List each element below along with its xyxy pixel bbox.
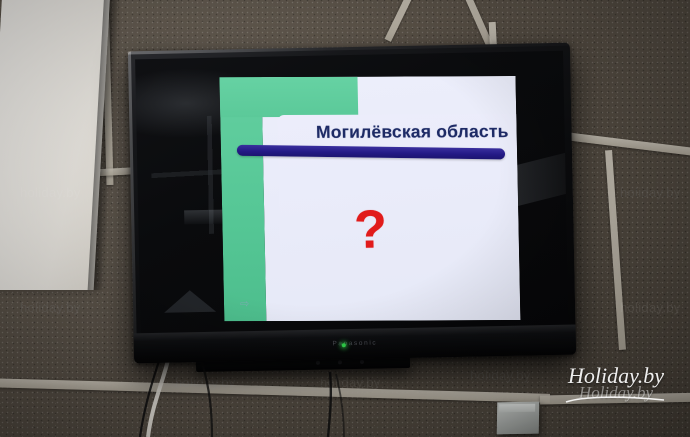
watermark-flourish-icon (564, 395, 668, 405)
photo-scene: holiday.byholiday.byholiday.byholiday.by… (0, 0, 690, 437)
holiday-watermark: Holiday.by Holiday.by (554, 365, 678, 427)
